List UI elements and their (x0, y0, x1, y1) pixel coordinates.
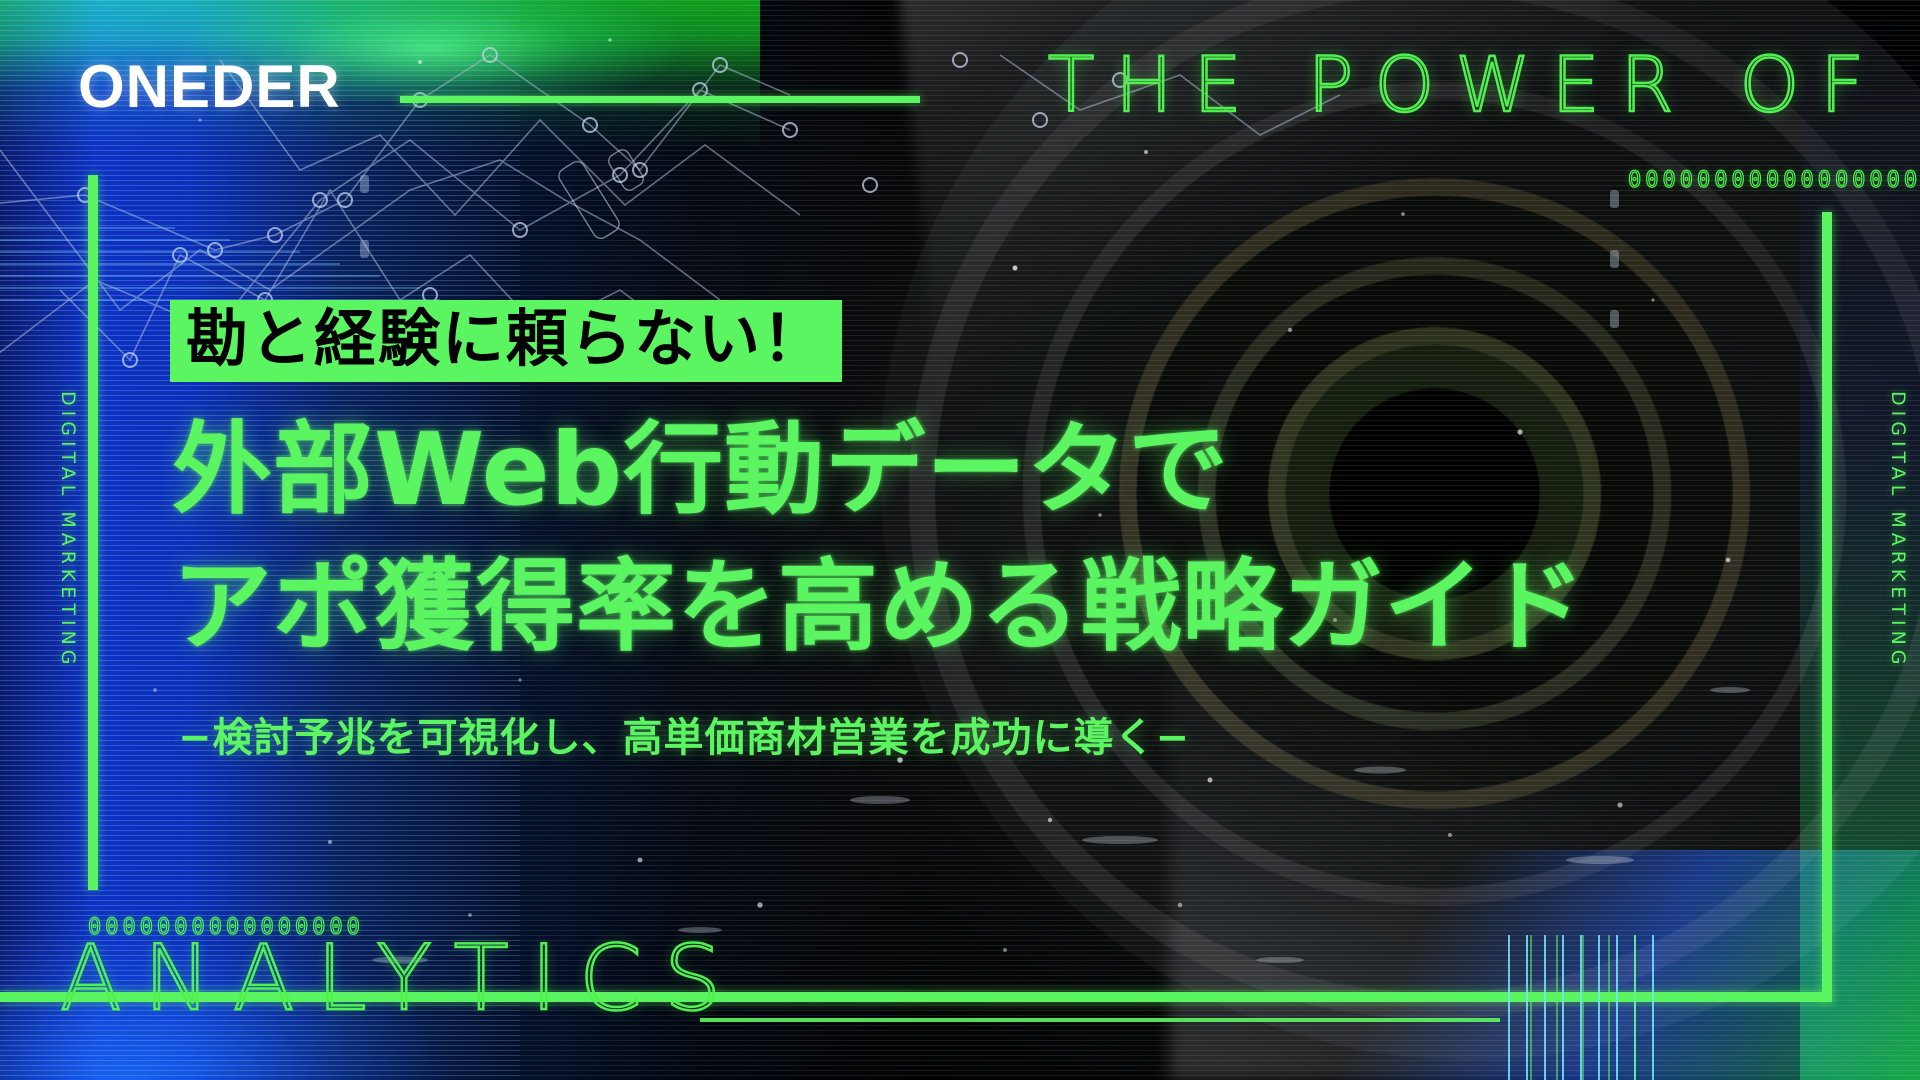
footer-rule (700, 1018, 1500, 1022)
brand-logo: ONEDER (78, 52, 341, 121)
side-label-right: DIGITAL MARKETING (1887, 391, 1909, 651)
footer-wordmark-analytics: ANALYTICS (60, 926, 743, 1031)
frame-left-bar (88, 175, 98, 890)
binary-zeros-top: 00000000000000000 (1628, 168, 1920, 193)
poster-canvas: ONEDER THE POWER OF 00000000000000000 DI… (0, 0, 1920, 1080)
subtitle-line: −検討予兆を可視化し、高単価商材営業を成功に導く− (178, 718, 1190, 758)
corner-hatch-lines-green (1530, 935, 1640, 1080)
logo-divider-rule (400, 96, 920, 103)
tagline-the-power-of: THE POWER OF (965, 40, 1885, 129)
headline-line-2: アポ獲得率を高める戦略ガイド (172, 557, 1586, 657)
eyebrow-highlight-text: 勘と経験に頼らない！ (170, 300, 842, 382)
headline-line-1: 外部Web行動データで (172, 420, 1229, 520)
side-label-left: DIGITAL MARKETING (57, 391, 79, 651)
frame-right-bar (1822, 212, 1832, 1002)
